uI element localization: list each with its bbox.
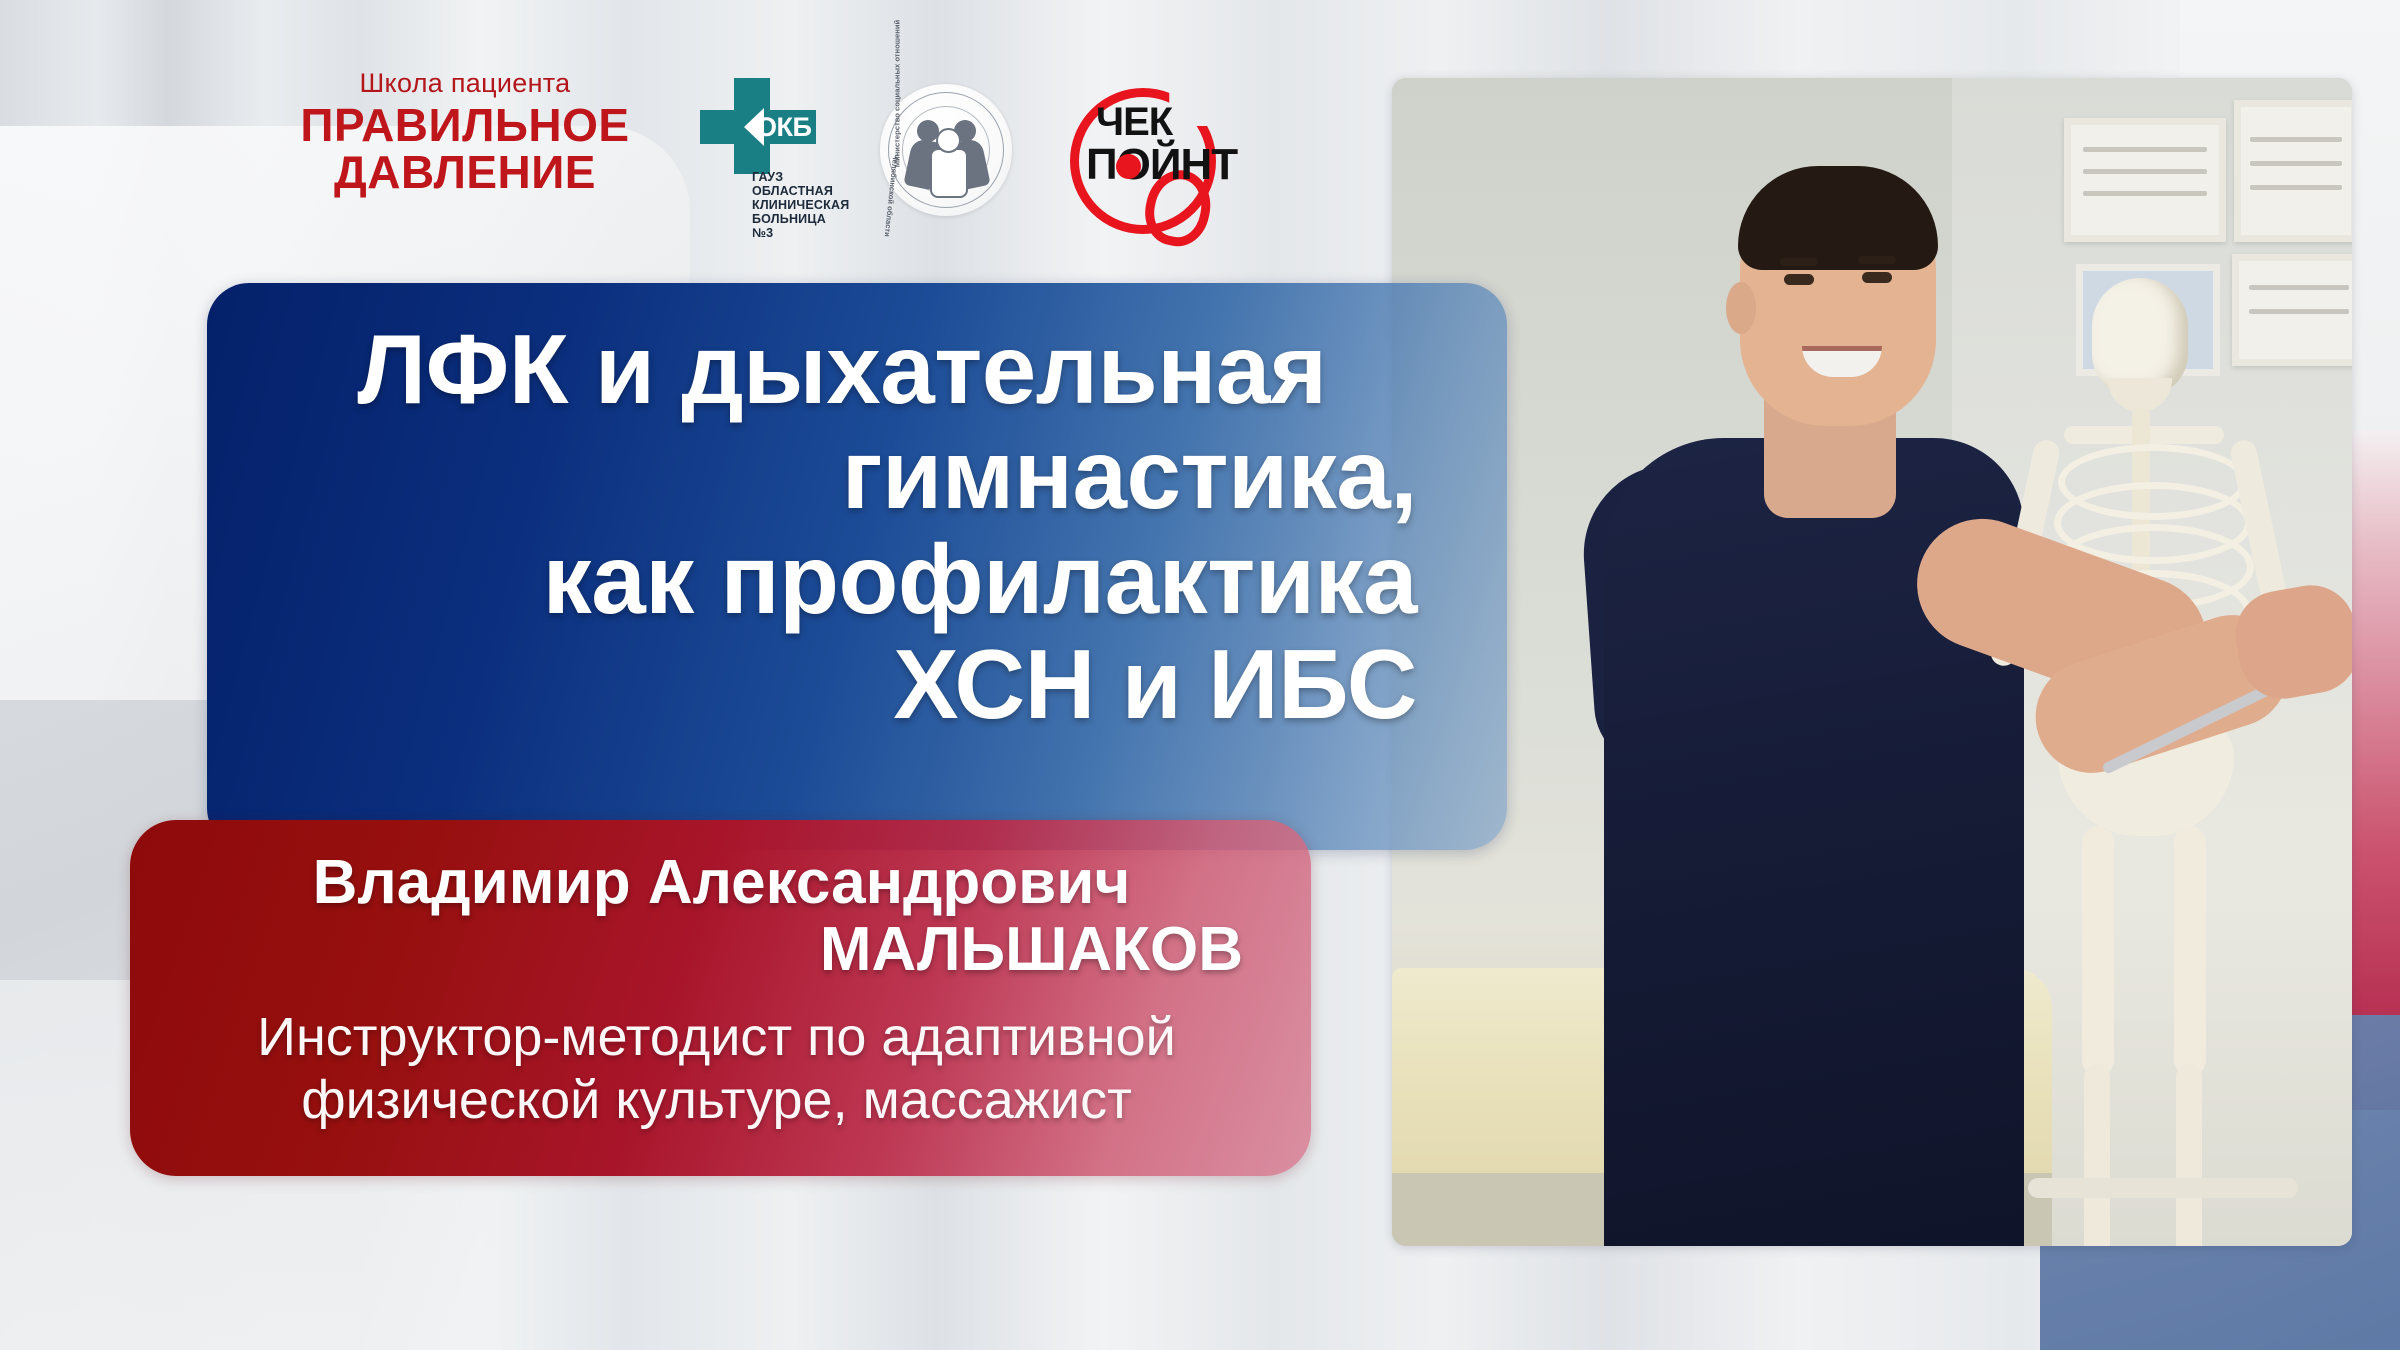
checkpoint-dot-icon xyxy=(1116,154,1141,179)
okb-line-4: БОЛЬНИЦА №3 xyxy=(752,212,849,240)
ministry-seal-logo: Министерство социальных отношений Челяби… xyxy=(880,84,1012,216)
title-line-4: ХСН и ИБС xyxy=(267,632,1417,737)
brand-lockup: Школа пациента ПРАВИЛЬНОЕ ДАВЛЕНИЕ xyxy=(300,70,630,196)
speaker-name-line-2: МАЛЬШАКОВ xyxy=(200,917,1243,984)
photo-eye-right xyxy=(1862,272,1892,283)
checkpoint-line1: ЧЕК xyxy=(1096,100,1172,145)
brand-subtitle: Школа пациента xyxy=(300,70,630,97)
skeleton-stand xyxy=(2028,1178,2298,1198)
okb-subtitle: ГАУЗ ОБЛАСТНАЯ КЛИНИЧЕСКАЯ БОЛЬНИЦА №3 xyxy=(752,170,849,240)
speaker-role: Инструктор-методист по адаптивной физиче… xyxy=(190,1006,1243,1131)
seal-text-bottom: Челябинской области xyxy=(883,154,901,237)
brand-title-line1: ПРАВИЛЬНОЕ xyxy=(300,102,630,149)
photo-eyebrow-right xyxy=(1858,256,1896,264)
speaker-card: Владимир Александрович МАЛЬШАКОВ Инструк… xyxy=(130,820,1311,1176)
logo-bar: Школа пациента ПРАВИЛЬНОЕ ДАВЛЕНИЕ ОКБ Г… xyxy=(300,70,1360,230)
speaker-photo xyxy=(1392,78,2352,1246)
title-line-3: как профилактика xyxy=(267,527,1417,632)
skeleton-tibia-left xyxy=(2084,1064,2110,1246)
title-card: ЛФК и дыхательная гимнастика, как профил… xyxy=(207,283,1507,850)
presentation-title: ЛФК и дыхательная гимнастика, как профил… xyxy=(267,317,1417,736)
brand-title: ПРАВИЛЬНОЕ ДАВЛЕНИЕ xyxy=(300,102,630,196)
presentation-slide: Школа пациента ПРАВИЛЬНОЕ ДАВЛЕНИЕ ОКБ Г… xyxy=(0,0,2400,1350)
title-line-1: ЛФК и дыхательная xyxy=(267,317,1417,422)
checkpoint-logo: ЧЕК ПОЙНТ xyxy=(1060,74,1260,226)
speaker-name-line-1: Владимир Александрович xyxy=(200,850,1243,917)
speaker-name: Владимир Александрович МАЛЬШАКОВ xyxy=(200,850,1243,984)
okb-wordmark: ОКБ xyxy=(756,111,811,143)
checkpoint-line2: ПОЙНТ xyxy=(1086,140,1237,190)
brand-title-line2: ДАВЛЕНИЕ xyxy=(300,149,630,196)
okb-line-3: КЛИНИЧЕСКАЯ xyxy=(752,198,849,212)
photo-eye-left xyxy=(1784,274,1814,285)
wall-certificate-3 xyxy=(2232,254,2352,366)
wall-certificate-1 xyxy=(2064,118,2226,242)
photo-ear xyxy=(1726,282,1756,334)
seal-text-top: Министерство социальных отношений xyxy=(893,20,902,168)
wall-certificate-2 xyxy=(2234,100,2352,242)
skeleton-femur-right xyxy=(2174,826,2206,1076)
okb-logo: ОКБ ГАУЗ ОБЛАСТНАЯ КЛИНИЧЕСКАЯ БОЛЬНИЦА … xyxy=(690,78,840,228)
skeleton-femur-left xyxy=(2082,826,2114,1076)
speaker-role-line-1: Инструктор-методист по адаптивной xyxy=(190,1006,1243,1069)
okb-line-1: ГАУЗ xyxy=(752,170,849,184)
title-line-2: гимнастика, xyxy=(267,422,1417,527)
okb-line-2: ОБЛАСТНАЯ xyxy=(752,184,849,198)
photo-eyebrow-left xyxy=(1780,258,1818,266)
speaker-role-line-2: физической культуре, массажист xyxy=(190,1069,1243,1132)
skeleton-tibia-right xyxy=(2176,1064,2202,1246)
